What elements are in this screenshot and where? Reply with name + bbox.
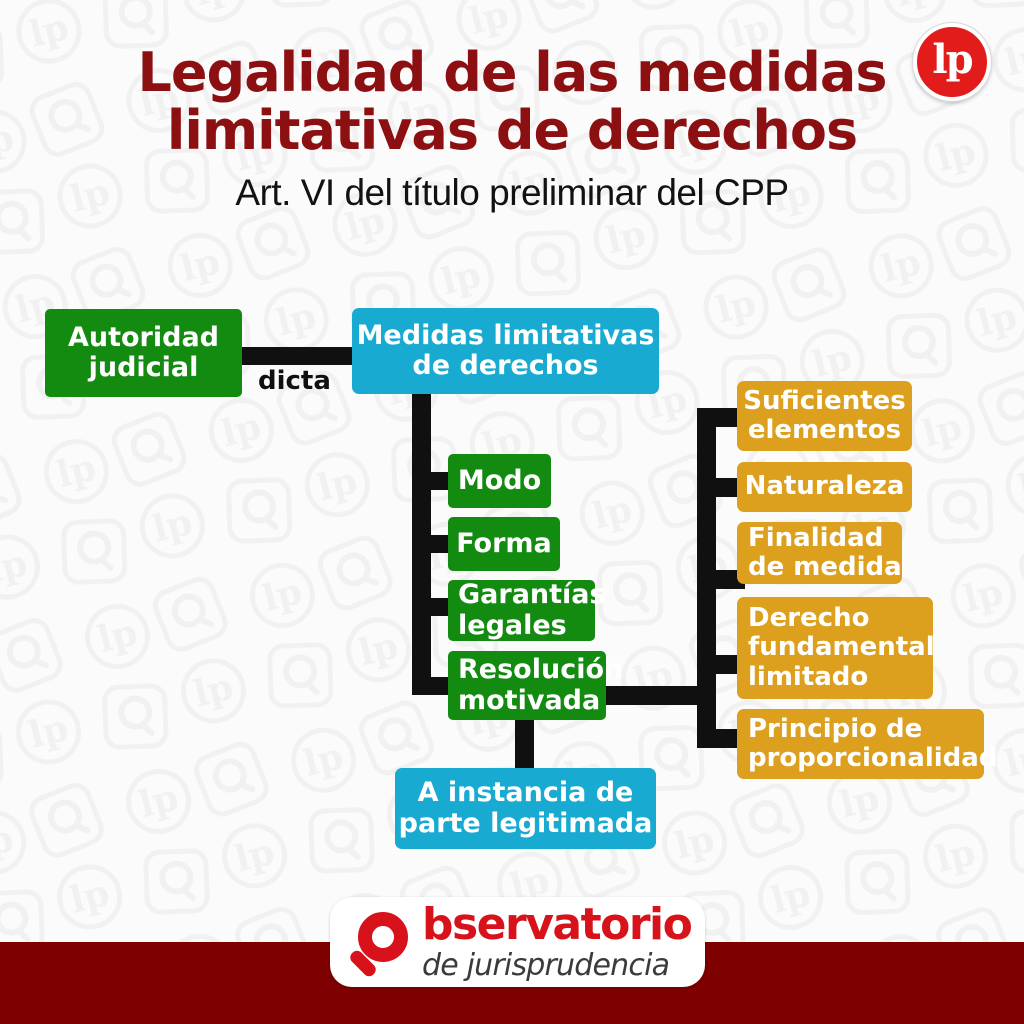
node-derecho-line3: limitado (748, 662, 868, 692)
magnifying-glass-icon (344, 901, 426, 983)
node-derecho-line2: fundamental (748, 632, 935, 662)
connector-autoridad-to-medidas (240, 347, 356, 365)
node-autoridad-judicial-line1: Autoridad (68, 322, 219, 353)
node-derecho-line1: Derecho (748, 603, 869, 633)
node-suficientes-elementos[interactable]: Suficientes elementos (737, 381, 912, 451)
node-instancia-line2: parte legitimada (399, 808, 653, 839)
node-resolucion-line2: motivada (458, 685, 600, 716)
edge-label-dicta: dicta (258, 366, 331, 396)
observatorio-logo: bservatorio de jurisprudencia (330, 897, 705, 987)
node-medidas-line1: Medidas limitativas (357, 320, 655, 351)
node-medidas-limitativas-de-derechos[interactable]: Medidas limitativas de derechos (352, 308, 659, 394)
node-suficientes-line1: Suficientes (743, 386, 906, 416)
node-principio-line2: proporcionalidad (748, 743, 997, 773)
node-finalidad-line2: de medida (748, 552, 902, 582)
node-resolucion-line1: Resolución (458, 654, 623, 685)
node-resolucion-motivada[interactable]: Resolución motivada (448, 651, 606, 720)
node-forma[interactable]: Forma (448, 517, 560, 571)
infographic-page: lp Legalidad de las medidas limi (0, 0, 1024, 1024)
node-finalidad-de-medida[interactable]: Finalidad de medida (737, 522, 902, 584)
node-garantias-line2: legales (458, 610, 567, 641)
node-modo[interactable]: Modo (448, 454, 551, 508)
node-forma-label: Forma (456, 529, 552, 559)
node-garantias-line1: Garantías (458, 579, 606, 610)
node-principio-line1: Principio de (748, 714, 922, 744)
node-instancia-line1: A instancia de (418, 777, 634, 808)
node-naturaleza-label: Naturaleza (745, 472, 905, 501)
node-autoridad-judicial-line2: judicial (89, 352, 199, 383)
observatorio-logo-text: bservatorio de jurisprudencia (422, 903, 691, 982)
observatorio-word: bservatorio (422, 903, 691, 947)
node-a-instancia-de-parte-legitimada[interactable]: A instancia de parte legitimada (395, 768, 656, 849)
node-derecho-fundamental-limitado[interactable]: Derecho fundamental limitado (737, 597, 933, 699)
node-naturaleza[interactable]: Naturaleza (737, 462, 912, 512)
node-garantias-legales[interactable]: Garantías legales (448, 580, 595, 641)
de-jurisprudencia-word: de jurisprudencia (422, 949, 691, 982)
node-finalidad-line1: Finalidad (748, 523, 883, 553)
connector-resolucion-to-instancia (515, 718, 534, 772)
node-suficientes-line2: elementos (748, 415, 901, 445)
magnifier-ring (358, 912, 408, 962)
node-principio-de-proporcionalidad[interactable]: Principio de proporcionalidad (737, 709, 984, 779)
node-autoridad-judicial[interactable]: Autoridad judicial (45, 309, 242, 397)
node-medidas-line2: de derechos (412, 350, 598, 381)
flowchart-diagram: dicta Autoridad judicial Medidas limitat… (0, 0, 1024, 1024)
node-modo-label: Modo (458, 466, 541, 496)
